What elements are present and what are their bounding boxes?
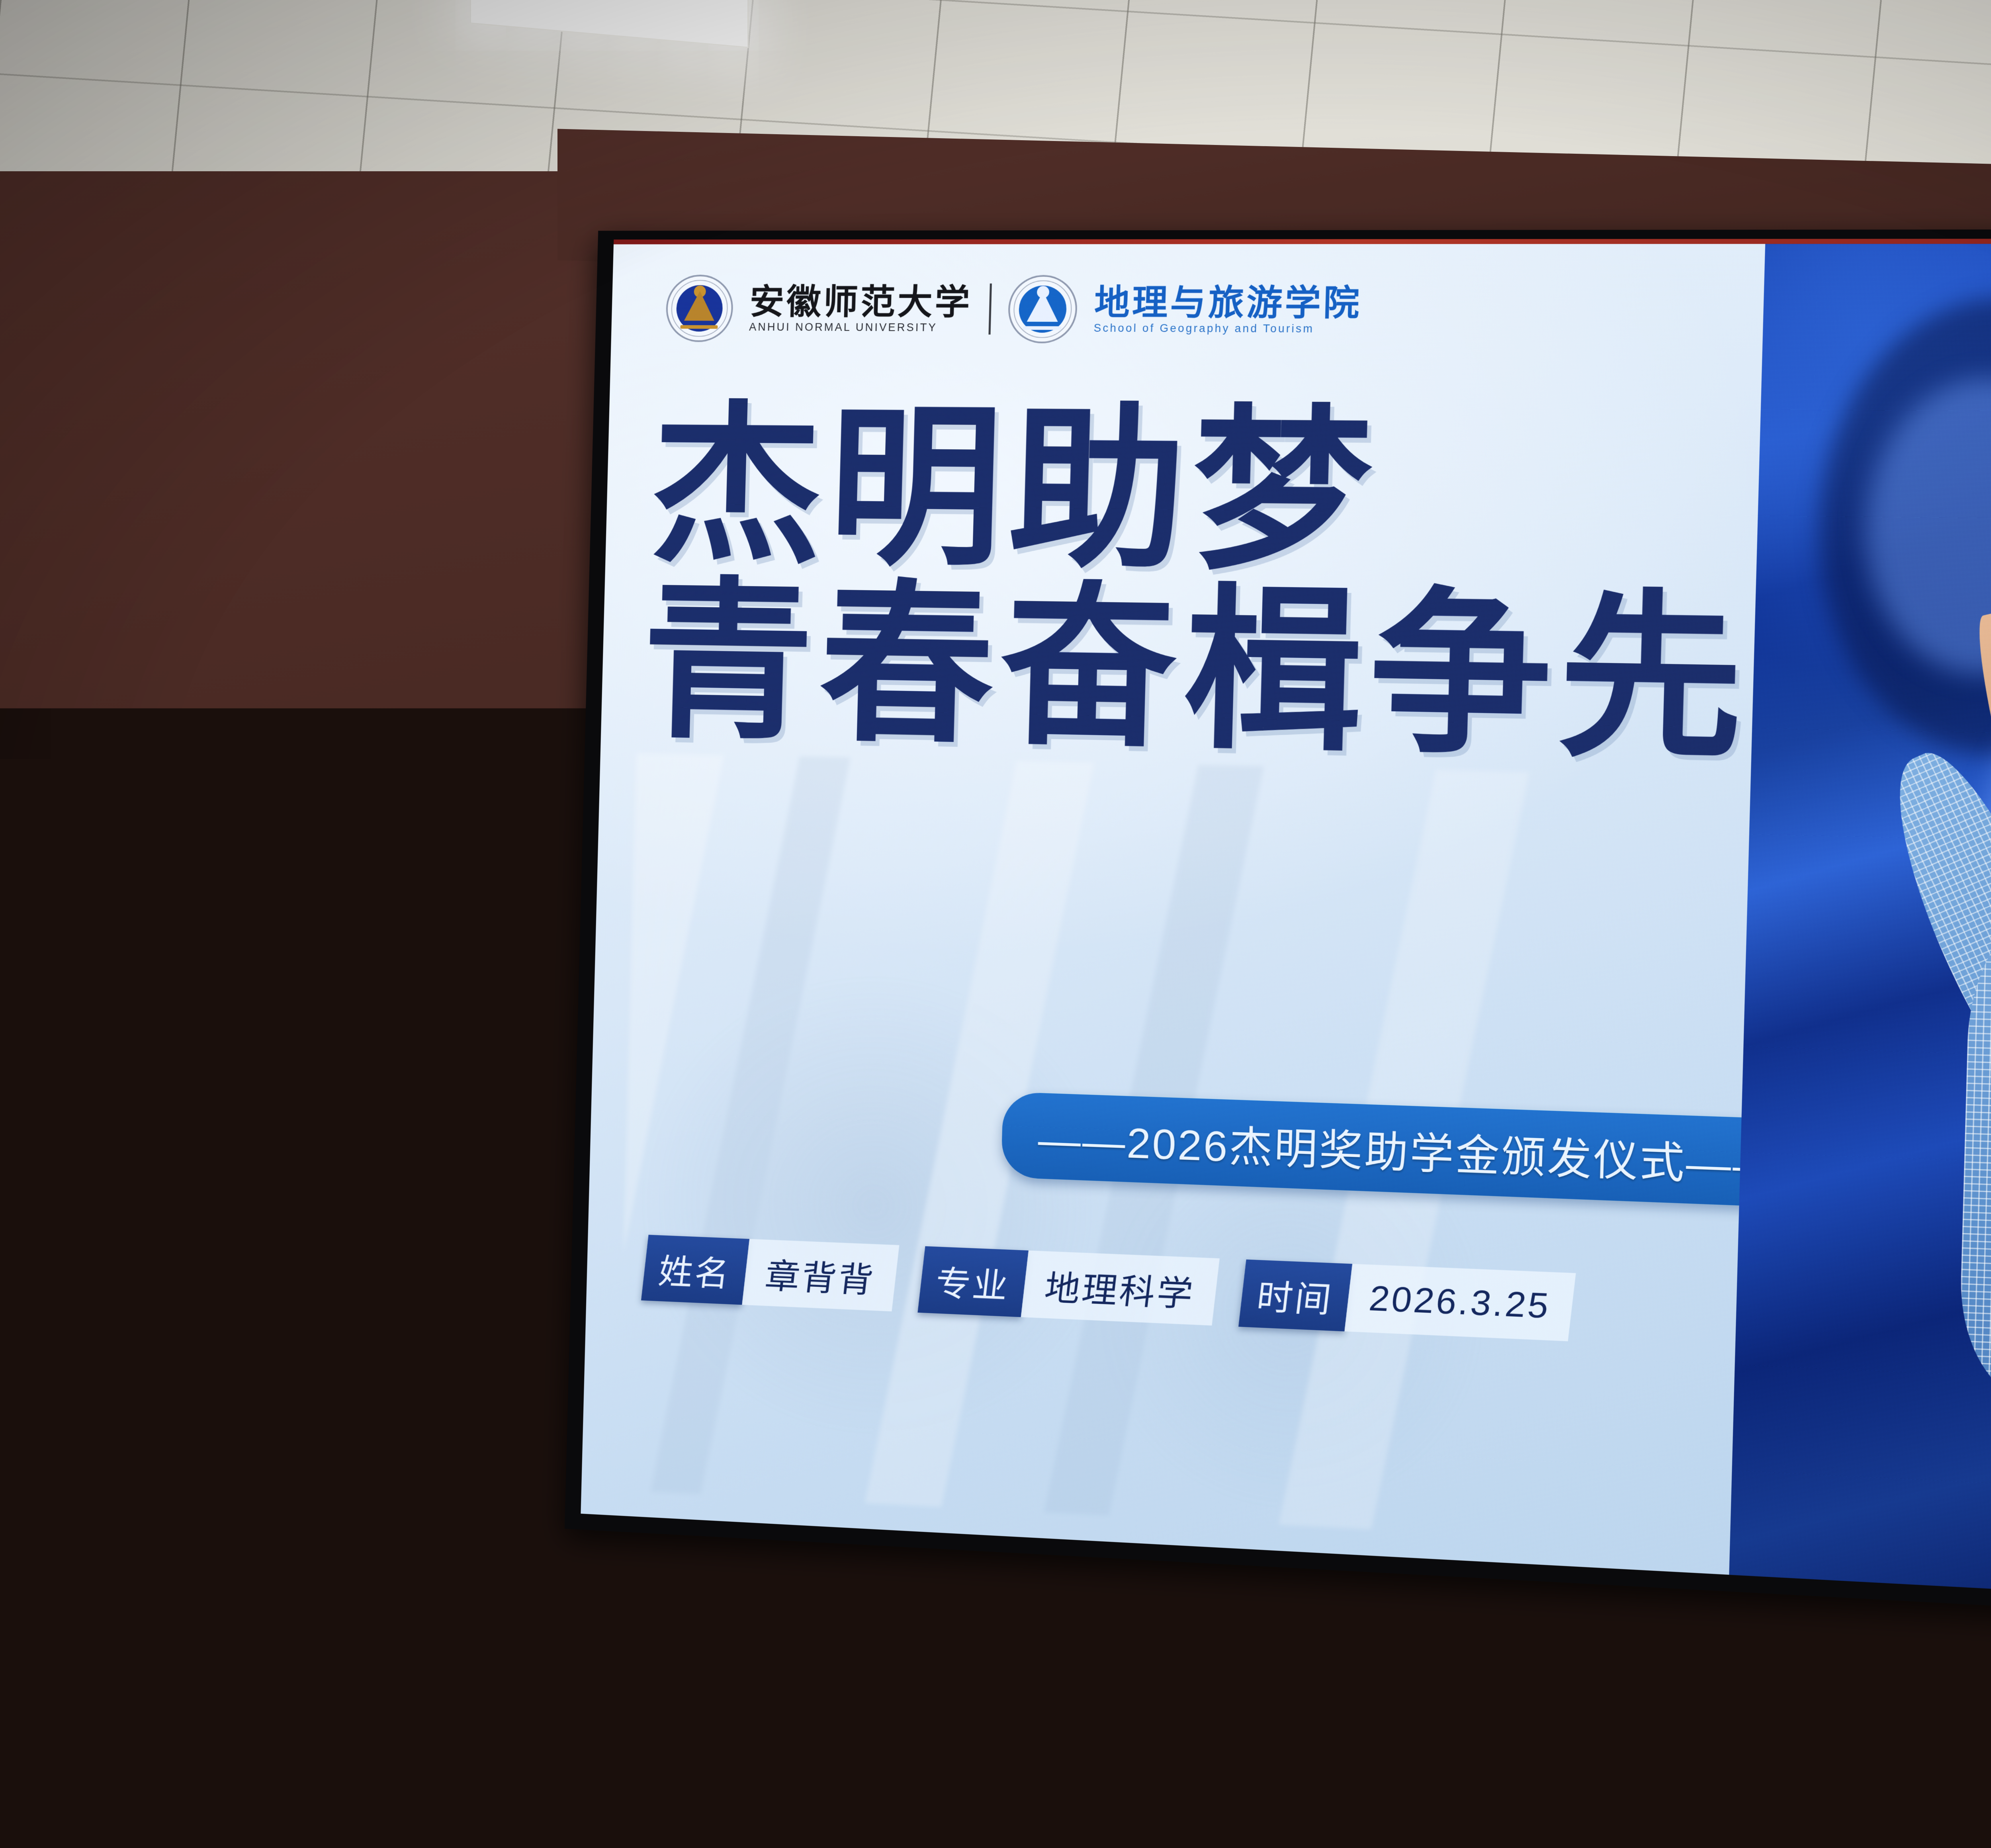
info-field-major: 专业 地理科学	[921, 1246, 1217, 1325]
ac-brand-label: Gree	[0, 1006, 36, 1030]
school-of-geography-and-tourism-seal-icon	[1007, 275, 1078, 344]
ac-power-button[interactable]	[60, 1055, 71, 1067]
school-name-cn: 地理与旅游学院	[1094, 285, 1362, 321]
ac-panel-seam	[0, 1316, 204, 1330]
logo-divider	[988, 284, 992, 335]
slide-headline: 杰明助梦 青春奋楫争先	[644, 403, 1757, 766]
ac-lcd-display	[0, 1048, 55, 1083]
ac-timer-button[interactable]	[87, 1070, 98, 1082]
slide-branding-row: 安徽师范大学 ANHUI NORMAL UNIVERSITY 地理与旅游学院 S…	[665, 275, 1363, 345]
university-logotype: 安徽师范大学 ANHUI NORMAL UNIVERSITY	[749, 285, 973, 333]
speaker-mouth	[600, 1128, 639, 1144]
university-name-en: ANHUI NORMAL UNIVERSITY	[749, 322, 972, 333]
slide-photo-girl-with-blue-silk	[1729, 244, 1991, 1617]
headline-line-2: 青春奋楫争先	[640, 579, 1752, 766]
info-value-time: 2026.3.25	[1344, 1264, 1576, 1341]
ac-control-panel[interactable]	[0, 1037, 110, 1096]
podium-body	[581, 1578, 1111, 1848]
school-logotype: 地理与旅游学院 School of Geography and Tourism	[1093, 285, 1362, 335]
info-field-time: 时间 2026.3.25	[1242, 1259, 1573, 1341]
ac-top-vent	[0, 860, 167, 1002]
ac-fan-button[interactable]	[74, 1069, 84, 1081]
info-label-major: 专业	[917, 1246, 1029, 1317]
air-conditioner-unit[interactable]: Gree	[0, 838, 207, 1778]
ac-energy-label-sticker	[139, 1045, 191, 1104]
slide-subtitle-text: ——2026杰明奖助学金颁发仪式——	[1037, 1105, 1780, 1194]
headline-line-1: 杰明助梦	[649, 403, 1758, 583]
info-value-major: 地理科学	[1021, 1250, 1220, 1325]
speaker-vest-v-neck	[553, 1205, 688, 1333]
school-name-en: School of Geography and Tourism	[1093, 323, 1361, 335]
university-name-cn: 安徽师范大学	[749, 285, 973, 320]
ac-button-cluster[interactable]	[60, 1055, 103, 1082]
ac-mode-button[interactable]	[74, 1056, 84, 1067]
ac-up-button[interactable]	[87, 1057, 98, 1068]
info-label-time: 时间	[1238, 1259, 1352, 1331]
anhui-normal-university-seal-icon	[665, 275, 734, 342]
ac-bottom-vent	[0, 1356, 68, 1528]
podium[interactable]	[450, 1402, 1230, 1848]
speaker-vest-embroidery	[605, 1354, 640, 1388]
lecture-hall-scene: 安徽师范大学 ANHUI NORMAL UNIVERSITY 地理与旅游学院 S…	[0, 0, 1991, 1848]
ac-down-button[interactable]	[60, 1069, 71, 1081]
